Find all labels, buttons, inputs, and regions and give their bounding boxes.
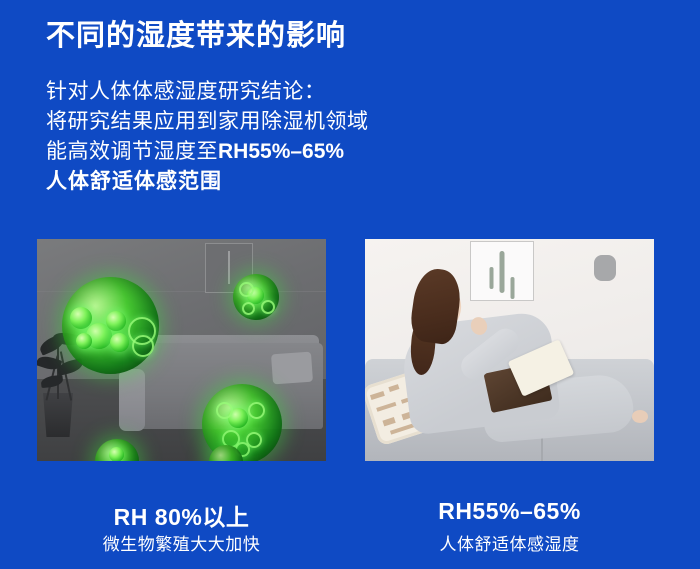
cactus-art-frame-icon [470,241,534,301]
microbe-ring [242,302,255,315]
image-panel-comfort-humidity [365,239,654,461]
bright-room-scene [365,239,654,461]
humidity-infographic-poster: 不同的湿度带来的影响 针对人体体感湿度研究结论： 将研究结果应用到家用除湿机领域… [0,0,700,569]
pillow-pattern [370,391,385,400]
body-line-3-highlight: RH55%–65% [218,140,344,163]
microbe-ring [216,402,233,419]
pillow-pattern [388,384,399,392]
microbe-cell [106,311,126,331]
wall-speaker-icon [594,255,616,281]
woman-foot [632,410,648,423]
cactus-icon [500,251,505,293]
caption-right-title: RH55%–65% [365,498,654,525]
microbe-medium [233,274,279,320]
microbe-cell [109,447,124,461]
page-title: 不同的湿度带来的影响 [46,18,346,54]
body-line-2: 将研究结果应用到家用除湿机领域 [46,107,369,137]
microbe-cell [76,333,92,349]
caption-left-sub: 微生物繁殖大大加快 [37,530,326,555]
caption-right-sub: 人体舒适体感湿度 [365,530,654,555]
sofa-cushion [271,352,313,385]
microbe-ring [132,335,154,357]
microbe-cell [110,333,129,352]
dark-room-scene [37,239,326,461]
body-copy: 针对人体体感湿度研究结论： 将研究结果应用到家用除湿机领域 能高效调节湿度至RH… [46,77,369,197]
microbe-large [62,277,159,374]
pillow-pattern [382,417,395,426]
sofa-arm [119,369,145,431]
microbe-ring [239,282,254,297]
microbe-ring [248,402,265,419]
pillow-pattern [376,402,396,412]
image-panel-high-humidity [37,239,326,461]
microbe-ring [261,300,275,314]
caption-left-title: RH 80%以上 [37,498,326,532]
body-line-1: 针对人体体感湿度研究结论： [46,77,369,107]
body-line-3: 能高效调节湿度至RH55%–65% [46,137,369,167]
body-line-4: 人体舒适体感范围 [46,167,369,197]
microbe-cell [70,307,92,329]
body-line-3-normal: 能高效调节湿度至 [46,140,218,163]
